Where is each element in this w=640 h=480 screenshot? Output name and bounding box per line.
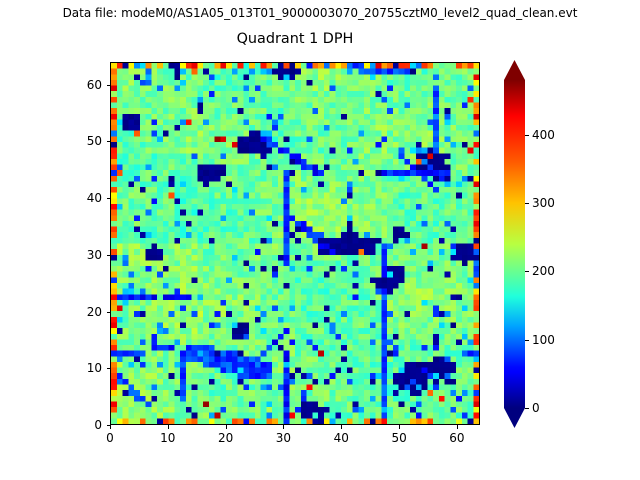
y-tick-mark <box>107 368 111 369</box>
y-tick-label: 50 <box>64 134 102 148</box>
x-tick-mark <box>168 425 169 429</box>
colorbar-tick-label: 0 <box>532 401 540 415</box>
colorbar-tick-mark <box>525 408 529 409</box>
x-tick-mark <box>341 425 342 429</box>
dph-heatmap-image <box>111 63 479 424</box>
y-tick-label: 30 <box>64 248 102 262</box>
y-tick-mark <box>107 312 111 313</box>
y-tick-mark <box>107 255 111 256</box>
y-tick-mark <box>107 198 111 199</box>
colorbar-tick-mark <box>525 340 529 341</box>
y-tick-label: 10 <box>64 361 102 375</box>
colorbar-tick-label: 300 <box>532 196 555 210</box>
heatmap-axes <box>110 62 480 425</box>
y-tick-mark <box>107 85 111 86</box>
colorbar-tick-label: 200 <box>532 264 555 278</box>
x-tick-label: 60 <box>437 431 477 445</box>
figure-suptitle: Data file: modeM0/AS1A05_013T01_90000030… <box>0 6 640 20</box>
colorbar-tick-label: 100 <box>532 333 555 347</box>
colorbar-gradient <box>504 60 525 428</box>
y-tick-label: 0 <box>64 418 102 432</box>
y-tick-label: 20 <box>64 305 102 319</box>
y-tick-label: 40 <box>64 191 102 205</box>
axes-title: Quadrant 1 DPH <box>110 31 480 48</box>
colorbar-tick-label: 400 <box>532 128 555 142</box>
x-tick-mark <box>283 425 284 429</box>
x-tick-label: 30 <box>263 431 303 445</box>
x-tick-label: 50 <box>379 431 419 445</box>
y-tick-mark <box>107 141 111 142</box>
colorbar <box>504 60 525 428</box>
x-tick-mark <box>226 425 227 429</box>
matplotlib-figure: Data file: modeM0/AS1A05_013T01_90000030… <box>0 0 640 480</box>
colorbar-tick-mark <box>525 203 529 204</box>
colorbar-tick-mark <box>525 135 529 136</box>
x-tick-label: 40 <box>321 431 361 445</box>
x-tick-label: 0 <box>90 431 130 445</box>
y-tick-label: 60 <box>64 78 102 92</box>
colorbar-tick-mark <box>525 271 529 272</box>
x-tick-mark <box>399 425 400 429</box>
x-tick-mark <box>110 425 111 429</box>
y-tick-mark <box>107 425 111 426</box>
x-tick-label: 20 <box>206 431 246 445</box>
x-tick-label: 10 <box>148 431 188 445</box>
x-tick-mark <box>457 425 458 429</box>
